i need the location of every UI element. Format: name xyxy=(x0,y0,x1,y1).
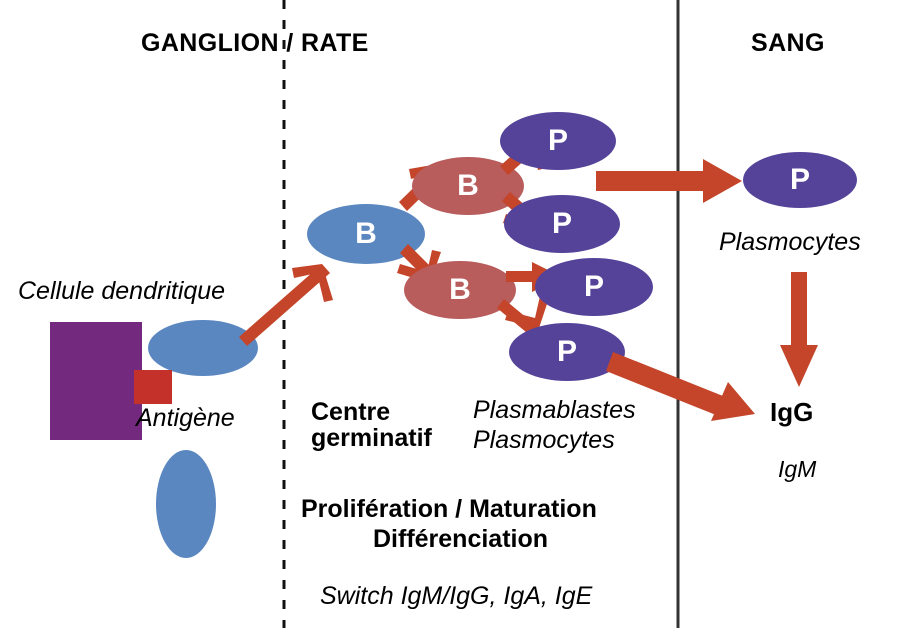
label-igg: IgG xyxy=(770,398,813,427)
label-plasmocytes-blood: Plasmocytes xyxy=(719,228,861,256)
cell-p-blood xyxy=(743,152,857,208)
cell-p-2 xyxy=(504,195,620,253)
arrow-dendritic-to-bcell xyxy=(239,264,333,346)
label-cellule-dendritique: Cellule dendritique xyxy=(18,277,225,305)
arrow-plasmocytes-to-igg xyxy=(780,272,818,387)
label-igm: IgM xyxy=(778,457,816,483)
antigen-square xyxy=(134,370,172,404)
header-sang: SANG xyxy=(751,29,825,57)
dendritic-cell-body xyxy=(50,322,142,440)
dendritic-cell-lobe-upper xyxy=(148,320,258,376)
label-differenciation: Différenciation xyxy=(373,525,548,553)
cell-p-1 xyxy=(500,112,616,170)
cell-p-4 xyxy=(509,323,625,381)
label-antigene: Antigène xyxy=(136,404,235,432)
cell-b-gc-bot xyxy=(404,261,516,319)
arrow-to-blood-plasmocyte xyxy=(596,159,742,203)
label-plasmablastes: Plasmablastes xyxy=(473,396,636,424)
dendritic-cell-lobe-lower xyxy=(156,450,216,558)
header-ganglion-rate: GANGLION / RATE xyxy=(141,29,369,57)
label-switch-ig: Switch IgM/IgG, IgA, IgE xyxy=(320,582,592,610)
label-centre-germinatif-line1: Centre xyxy=(311,398,390,426)
diagram-canvas: B B B P P P P P GANGLION / RATE SANG Cel… xyxy=(0,0,910,628)
cell-p-3 xyxy=(535,258,653,316)
label-proliferation-maturation: Prolifération / Maturation xyxy=(301,495,597,523)
label-centre-germinatif-line2: germinatif xyxy=(311,424,432,452)
label-plasmocytes-center: Plasmocytes xyxy=(473,426,615,454)
